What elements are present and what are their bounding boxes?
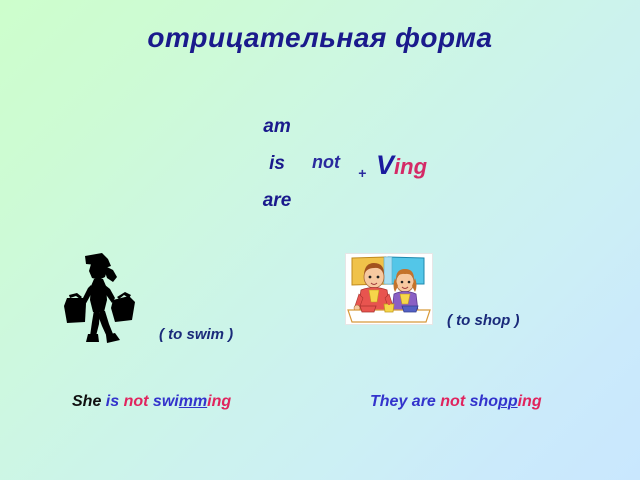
sentence-left-part-1: is	[106, 393, 124, 410]
person-walking-silhouette-icon	[55, 250, 160, 346]
shopping-clipart-image	[345, 253, 433, 325]
example-sentence-left: She is not swimming	[72, 393, 231, 411]
plus-operator: +	[358, 165, 366, 181]
sentence-left-part-2: not	[124, 393, 153, 410]
sentence-left-part-4: mm	[179, 393, 207, 410]
slide-canvas: отрицательная форма am is are not + Ving	[0, 0, 640, 480]
sentence-right-part-1: not	[440, 393, 469, 410]
example-sentence-right: They are not shopping	[370, 393, 542, 411]
aux-verb-am: am	[240, 117, 314, 136]
aux-verb-are: are	[240, 191, 314, 210]
swimmer-silhouette-image	[55, 250, 160, 346]
sentence-left-part-5: ing	[207, 393, 231, 410]
negation-word-not: not	[312, 152, 340, 173]
two-people-at-table-icon	[346, 254, 432, 324]
aux-verb-is: is	[240, 154, 314, 173]
verb-letter-v: V	[376, 150, 394, 180]
page-title: отрицательная форма	[0, 22, 640, 54]
sentence-right-part-3: pp	[498, 393, 518, 410]
sentence-right-part-2: sho	[470, 393, 498, 410]
caption-to-swim: ( to swim )	[159, 326, 233, 343]
sentence-right-part-4: ing	[518, 393, 542, 410]
sentence-right-part-0: They are	[370, 393, 440, 410]
caption-to-shop: ( to shop )	[447, 312, 519, 329]
ving-construction: Ving	[376, 150, 427, 181]
negative-form-formula: am is are not + Ving	[240, 112, 500, 220]
sentence-left-part-0: She	[72, 393, 106, 410]
ing-suffix: ing	[394, 154, 427, 179]
sentence-left-part-3: swi	[153, 393, 179, 410]
